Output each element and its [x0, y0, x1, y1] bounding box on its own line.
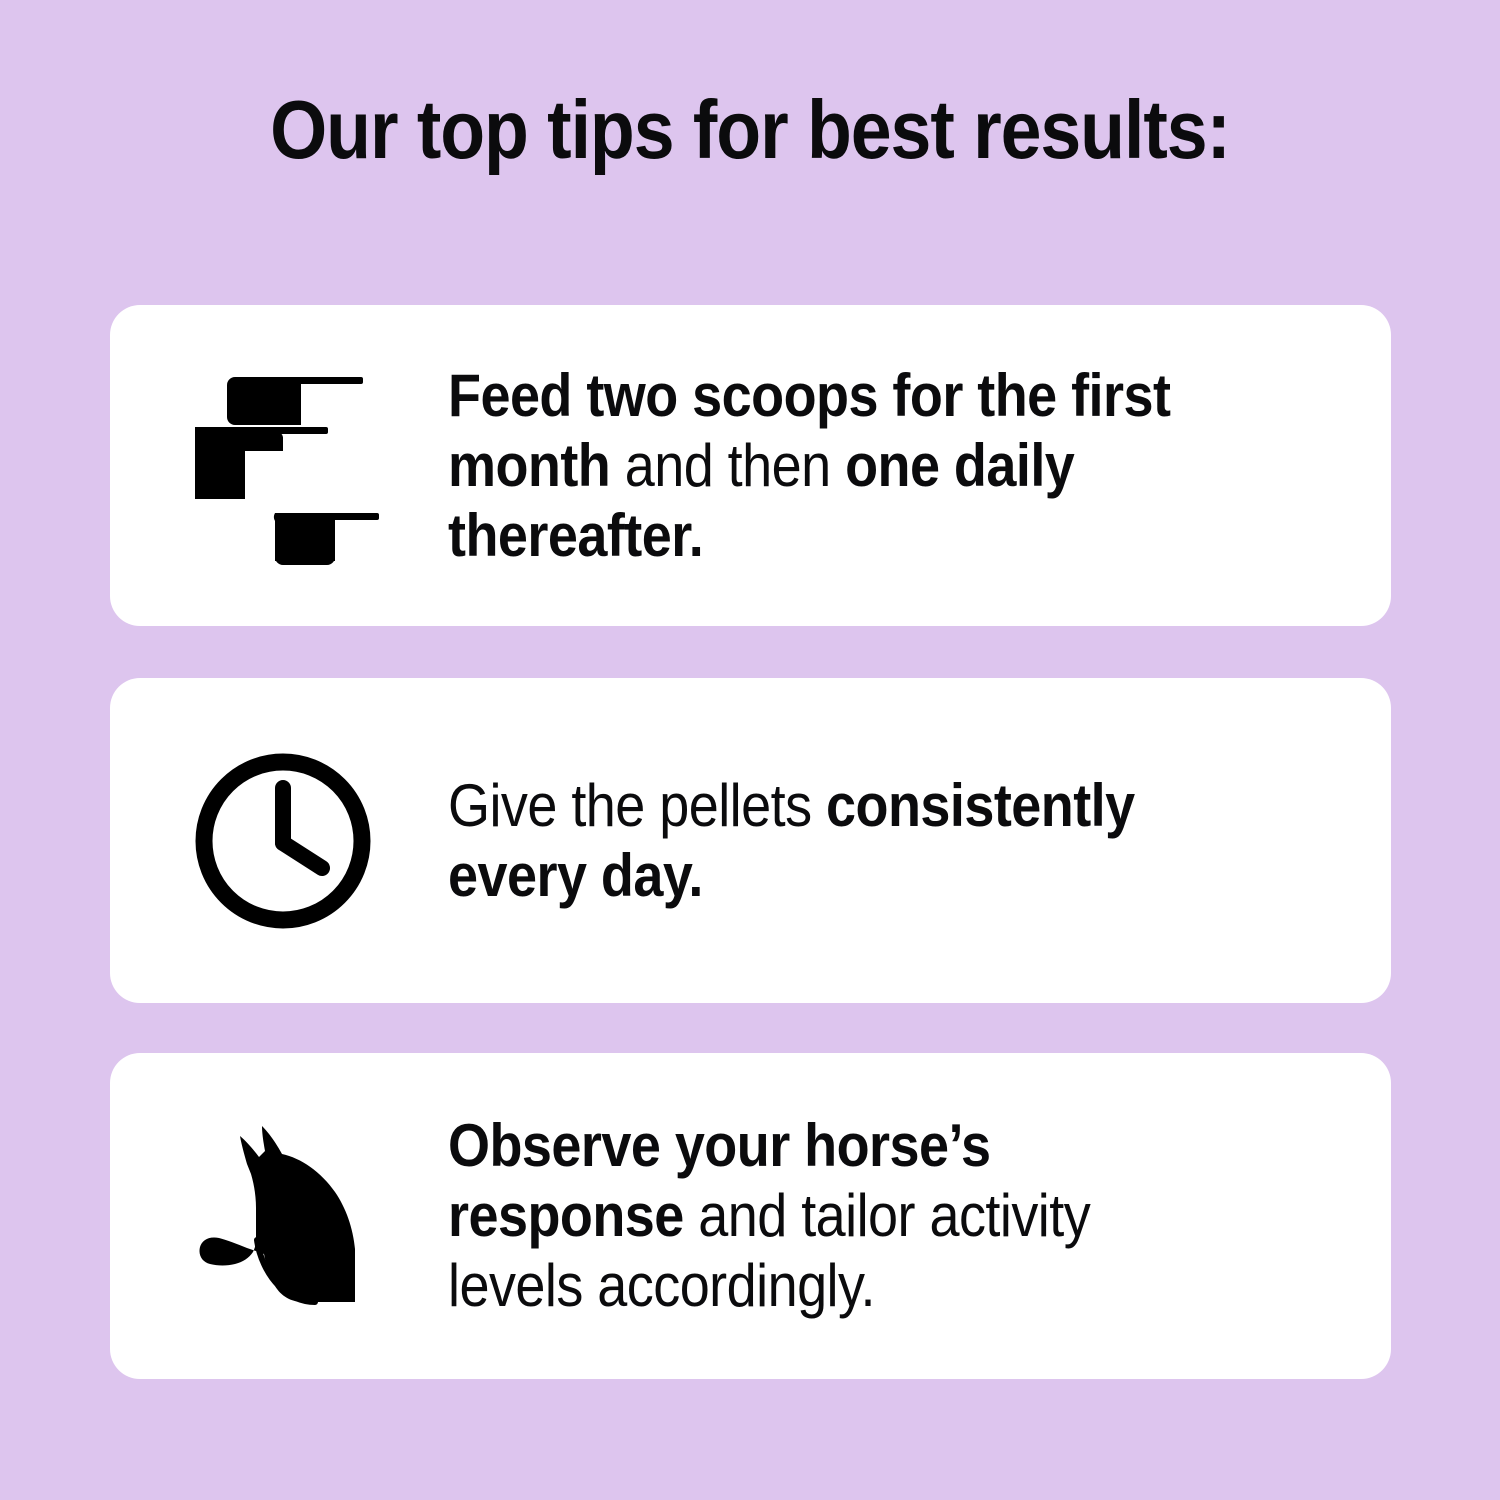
- tip-card-3-text: Observe your horse’s response and tailor…: [448, 1111, 1297, 1321]
- tip-card-3: Observe your horse’s response and tailor…: [110, 1053, 1391, 1379]
- page-title: Our top tips for best results:: [86, 84, 1414, 176]
- tip-card-1: Feed two scoops for the first month and …: [110, 305, 1391, 626]
- tip-card-2: Give the pellets consistently every day.: [110, 678, 1391, 1003]
- tip-card-3-icon-wrap: [110, 1116, 448, 1316]
- tip-card-1-icon-wrap: [110, 361, 448, 571]
- tip-text-segment: Give the pellets: [448, 772, 826, 839]
- tip-card-1-text: Feed two scoops for the first month and …: [448, 361, 1297, 571]
- two-scoops-icon: [183, 361, 383, 571]
- tip-card-2-icon-wrap: [110, 746, 448, 936]
- clock-icon: [188, 746, 378, 936]
- tips-infographic: Our top tips for best results:: [0, 0, 1500, 1500]
- tip-card-2-text: Give the pellets consistently every day.: [448, 771, 1297, 911]
- horse-head-icon: [183, 1116, 383, 1316]
- tip-text-segment: and then: [610, 432, 845, 499]
